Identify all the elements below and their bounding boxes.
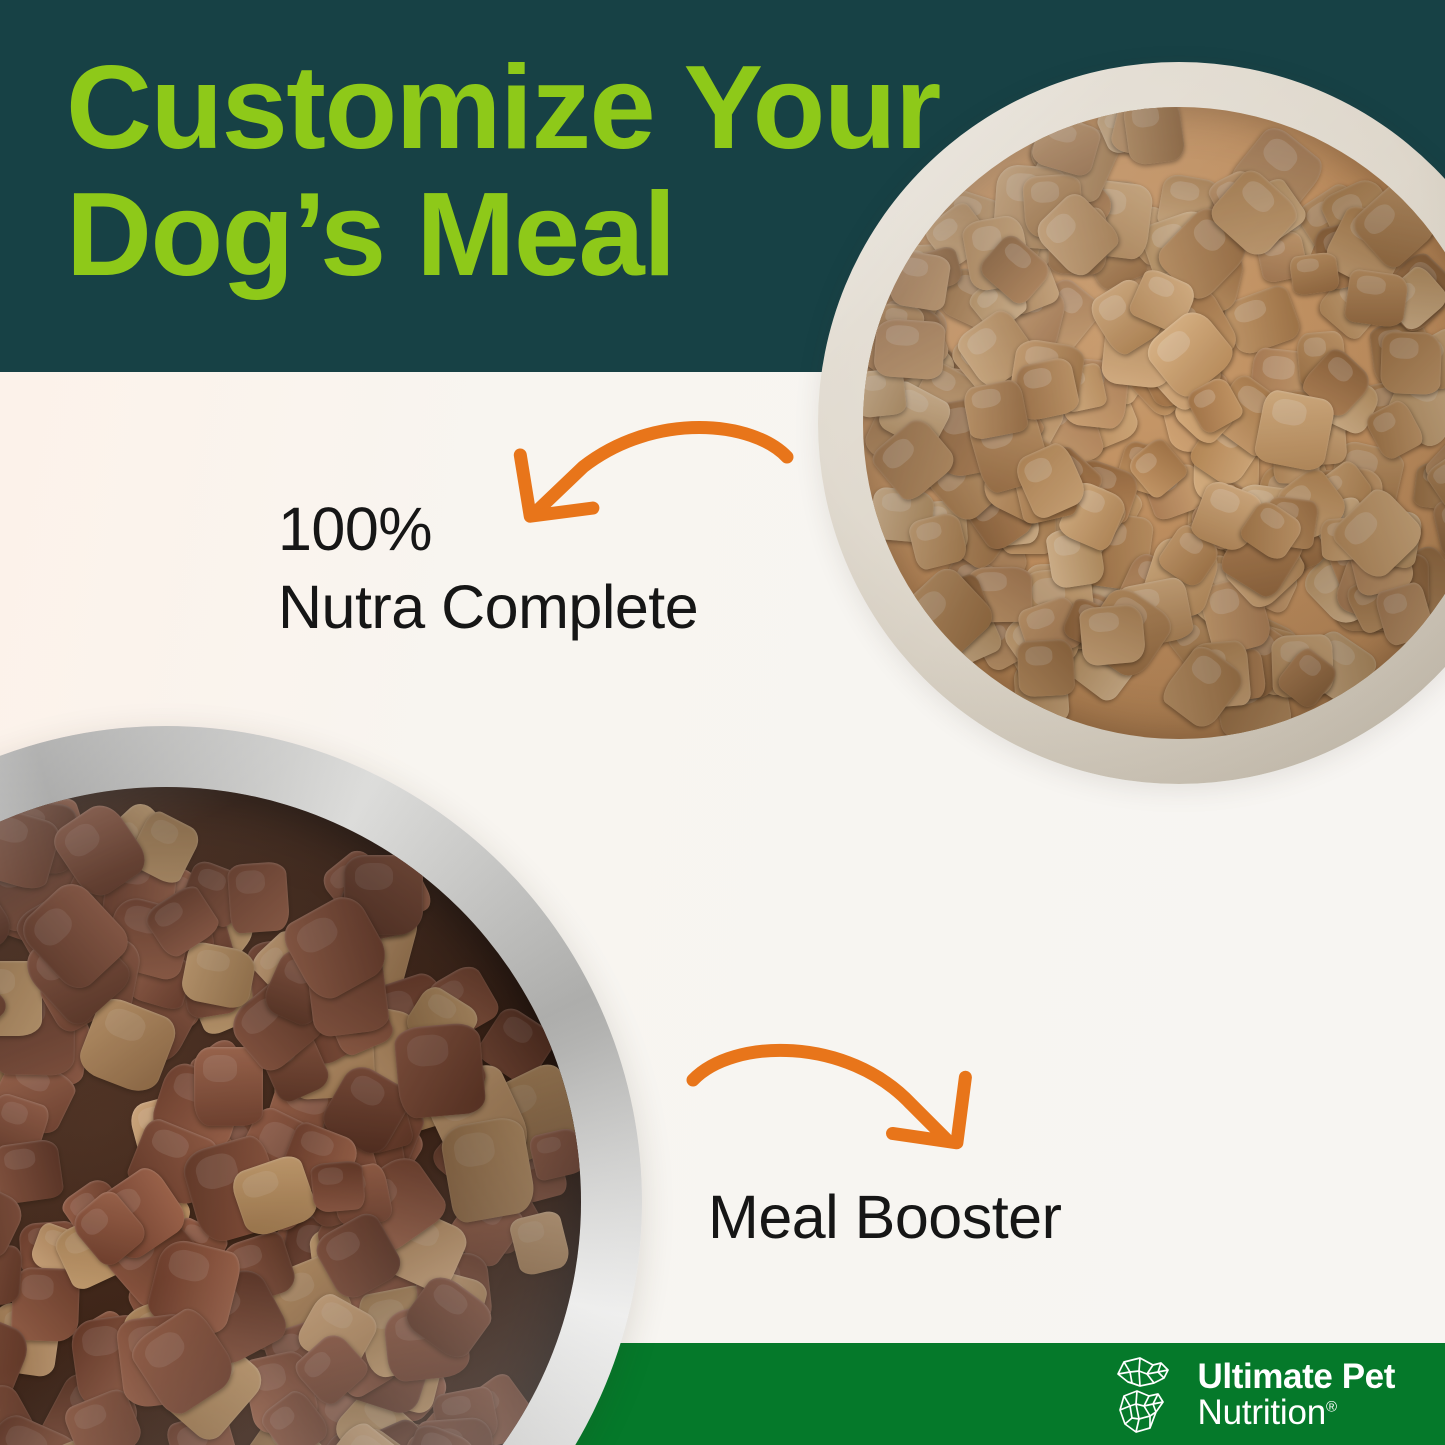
brand-logo-wordmark: Ultimate Pet Nutrition® bbox=[1198, 1359, 1395, 1432]
food-piece bbox=[873, 318, 946, 381]
food-piece bbox=[962, 378, 1030, 441]
brand-name-line1: Ultimate Pet bbox=[1198, 1359, 1395, 1395]
food-piece bbox=[1288, 250, 1340, 295]
brand-name-nutrition: Nutrition bbox=[1198, 1393, 1327, 1432]
food-piece bbox=[1122, 107, 1186, 166]
food-piece bbox=[310, 1160, 366, 1214]
brand-logo: Ultimate Pet Nutrition® bbox=[1106, 1355, 1395, 1435]
food-piece bbox=[888, 249, 952, 312]
callout-nutra-complete-label: 100% Nutra Complete bbox=[278, 490, 698, 646]
marketing-image-canvas: Customize Your Dog’s Meal 100% Nutra Com… bbox=[0, 0, 1445, 1445]
page-title: Customize Your Dog’s Meal bbox=[66, 44, 966, 299]
food-piece bbox=[1252, 388, 1335, 473]
curved-arrow-right-down-icon bbox=[675, 1032, 985, 1167]
geometric-pet-head-logo-icon bbox=[1106, 1356, 1180, 1434]
registered-mark: ® bbox=[1326, 1398, 1337, 1415]
food-piece bbox=[394, 1022, 487, 1120]
food-piece bbox=[1343, 269, 1409, 329]
food-piece bbox=[1380, 331, 1443, 396]
brand-name-line2: Nutrition® bbox=[1198, 1395, 1395, 1431]
food-piece bbox=[1017, 638, 1076, 697]
callout-meal-booster-label: Meal Booster bbox=[708, 1178, 1061, 1256]
bowl-food-area-booster bbox=[0, 787, 581, 1445]
food-piece bbox=[438, 1114, 538, 1224]
food-piece bbox=[0, 1138, 65, 1206]
food-piece bbox=[508, 1209, 573, 1278]
food-piece bbox=[1079, 604, 1147, 667]
bowl-food-area-nutra bbox=[863, 107, 1445, 739]
food-piece bbox=[226, 861, 290, 934]
